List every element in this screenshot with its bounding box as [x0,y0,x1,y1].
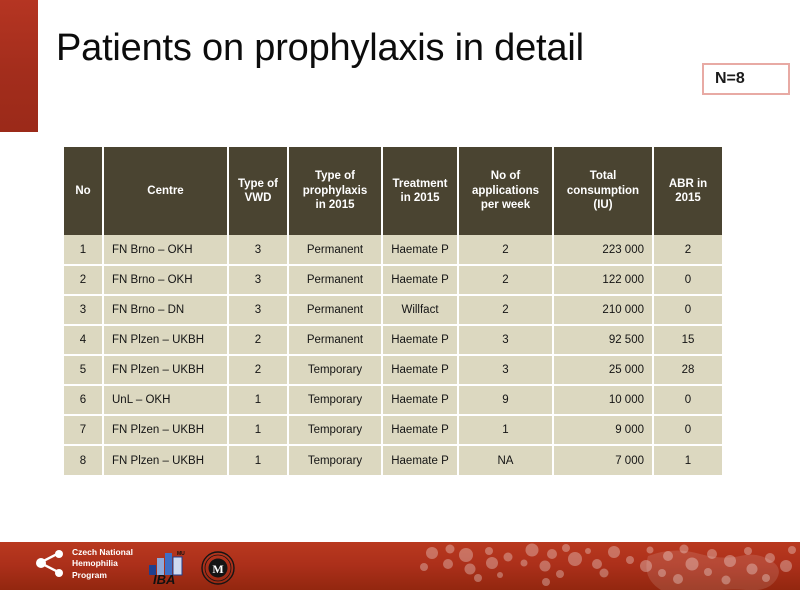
cell-treatment: Willfact [382,295,458,325]
cell-vwd: 2 [228,355,288,385]
cell-total-consumption: 9 000 [553,415,653,445]
cell-applications: NA [458,445,553,475]
cell-abr: 1 [653,445,722,475]
cell-prophylaxis: Permanent [288,265,382,295]
cell-prophylaxis: Temporary [288,415,382,445]
column-header-total-consumption: Totalconsumption(IU) [553,147,653,235]
cell-total-consumption: 10 000 [553,385,653,415]
cell-total-consumption: 92 500 [553,325,653,355]
cell-no: 4 [64,325,103,355]
sample-size-label: N=8 [715,70,745,88]
table-row: 4 FN Plzen – UKBH 2 Permanent Haemate P … [64,325,722,355]
table-row: 2 FN Brno – OKH 3 Permanent Haemate P 2 … [64,265,722,295]
iba-superscript: MU [177,551,185,557]
column-header-treatment: Treatmentin 2015 [382,147,458,235]
cell-total-consumption: 7 000 [553,445,653,475]
cell-treatment: Haemate P [382,415,458,445]
table-row: 5 FN Plzen – UKBH 2 Temporary Haemate P … [64,355,722,385]
cell-centre: UnL – OKH [103,385,228,415]
cell-vwd: 1 [228,385,288,415]
cell-abr: 0 [653,265,722,295]
cell-centre: FN Brno – OKH [103,265,228,295]
cell-no: 6 [64,385,103,415]
cell-centre: FN Plzen – UKBH [103,355,228,385]
cell-abr: 0 [653,295,722,325]
cell-treatment: Haemate P [382,385,458,415]
left-accent-bar [0,0,38,132]
cell-centre: FN Brno – OKH [103,235,228,265]
cell-vwd: 2 [228,325,288,355]
cell-abr: 28 [653,355,722,385]
sample-size-badge: N=8 [702,63,790,95]
cell-abr: 2 [653,235,722,265]
cell-total-consumption: 122 000 [553,265,653,295]
iba-logo: MU IBA [147,549,193,585]
prophylaxis-patients-table: No Centre Type ofVWD Type ofprophylaxisi… [64,147,722,475]
table-row: 8 FN Plzen – UKBH 1 Temporary Haemate P … [64,445,722,475]
table-row: 3 FN Brno – DN 3 Permanent Willfact 2 21… [64,295,722,325]
cell-applications: 2 [458,265,553,295]
cell-prophylaxis: Temporary [288,355,382,385]
iba-wordmark: IBA [153,572,175,585]
cell-abr: 15 [653,325,722,355]
cell-no: 5 [64,355,103,385]
column-header-abr: ABR in2015 [653,147,722,235]
cell-no: 3 [64,295,103,325]
cell-prophylaxis: Permanent [288,235,382,265]
table-row: 7 FN Plzen – UKBH 1 Temporary Haemate P … [64,415,722,445]
cell-applications: 2 [458,295,553,325]
cell-no: 8 [64,445,103,475]
cell-no: 1 [64,235,103,265]
cell-vwd: 3 [228,295,288,325]
cell-treatment: Haemate P [382,235,458,265]
cell-vwd: 1 [228,445,288,475]
cell-treatment: Haemate P [382,445,458,475]
cell-centre: FN Plzen – UKBH [103,325,228,355]
table-row: 6 UnL – OKH 1 Temporary Haemate P 9 10 0… [64,385,722,415]
cell-prophylaxis: Temporary [288,445,382,475]
cell-centre: FN Plzen – UKBH [103,445,228,475]
czech-national-hemophilia-program-logo: Czech National Hemophilia Program [36,547,133,581]
cell-no: 2 [64,265,103,295]
cell-no: 7 [64,415,103,445]
masaryk-university-seal: M [201,551,235,585]
cell-total-consumption: 25 000 [553,355,653,385]
cell-prophylaxis: Permanent [288,295,382,325]
page-title: Patients on prophylaxis in detail [56,28,584,70]
cell-centre: FN Brno – DN [103,295,228,325]
cell-applications: 2 [458,235,553,265]
cell-vwd: 1 [228,415,288,445]
cell-total-consumption: 223 000 [553,235,653,265]
column-header-centre: Centre [103,147,228,235]
cell-centre: FN Plzen – UKBH [103,415,228,445]
cell-applications: 9 [458,385,553,415]
column-header-applications-per-week: No ofapplicationsper week [458,147,553,235]
cnhp-line-3: Program [72,570,133,581]
column-header-type-of-prophylaxis: Type ofprophylaxisin 2015 [288,147,382,235]
cnhp-logo-text: Czech National Hemophilia Program [72,547,133,581]
cell-treatment: Haemate P [382,355,458,385]
column-header-type-of-vwd: Type ofVWD [228,147,288,235]
cell-abr: 0 [653,415,722,445]
muni-monogram: M [212,562,223,576]
cnhp-line-2: Hemophilia [72,558,133,569]
cell-vwd: 3 [228,265,288,295]
cell-prophylaxis: Permanent [288,325,382,355]
cell-treatment: Haemate P [382,325,458,355]
cell-prophylaxis: Temporary [288,385,382,415]
cell-applications: 1 [458,415,553,445]
cell-treatment: Haemate P [382,265,458,295]
table-row: 1 FN Brno – OKH 3 Permanent Haemate P 2 … [64,235,722,265]
table-header-row: No Centre Type ofVWD Type ofprophylaxisi… [64,147,722,235]
cell-applications: 3 [458,325,553,355]
table-body: 1 FN Brno – OKH 3 Permanent Haemate P 2 … [64,235,722,475]
cell-vwd: 3 [228,235,288,265]
column-header-no: No [64,147,103,235]
molecule-icon [36,549,66,579]
cnhp-line-1: Czech National [72,547,133,558]
cell-total-consumption: 210 000 [553,295,653,325]
cell-applications: 3 [458,355,553,385]
cell-abr: 0 [653,385,722,415]
